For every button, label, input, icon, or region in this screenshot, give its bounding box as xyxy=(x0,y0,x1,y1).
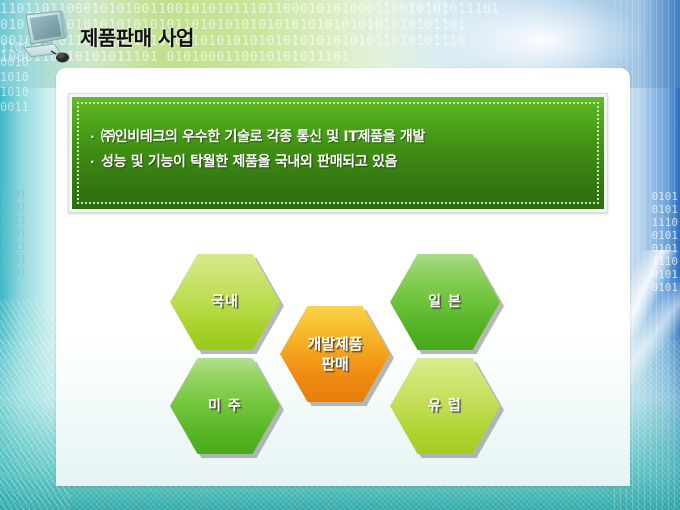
hexagon-diagram: 국내 일 본 미 주 유 럽 개발제품 판매 xyxy=(150,240,530,460)
binary-row: 1101 xyxy=(0,253,58,266)
hexagon-label: 일 본 xyxy=(428,293,462,311)
binary-row: 1011 xyxy=(0,240,58,253)
callout-bullet-list: ·㈜인비테크의 우수한 기술로 각종 통신 및 IT제품올 개발 ·성능 및 기… xyxy=(90,125,590,175)
binary-row: 1010 xyxy=(0,70,58,85)
binary-row: 1101101100010101001100101010111011000101… xyxy=(0,2,680,18)
list-item: ·성능 및 기능이 탁월한 제품올 국내외 판매되고 있음 xyxy=(90,150,590,175)
hexagon-center-label: 개발제품 판매 xyxy=(307,334,362,374)
hexagon-label: 미 주 xyxy=(208,397,242,415)
binary-row: 1010 xyxy=(0,85,58,100)
desktop-computer-icon xyxy=(16,8,78,70)
binary-row: 1101 xyxy=(0,266,58,279)
bullet-marker: · xyxy=(90,125,101,150)
binary-row: 1101 xyxy=(0,201,58,214)
summary-callout-box: ·㈜인비테크의 우수한 기술로 각종 통신 및 IT제품올 개발 ·성능 및 기… xyxy=(68,93,608,213)
list-item-text: 성능 및 기능이 탁월한 제품올 국내외 판매되고 있음 xyxy=(101,154,397,170)
hexagon-center-label-line1: 개발제품 xyxy=(307,335,362,353)
callout-inner: ·㈜인비테크의 우수한 기술로 각종 통신 및 IT제품올 개발 ·성능 및 기… xyxy=(72,97,604,209)
hexagon-label: 국내 xyxy=(211,293,239,311)
binary-row: 1011 xyxy=(0,214,58,227)
hexagon-center-label-line2: 판매 xyxy=(321,355,349,373)
binary-row: 1101 xyxy=(0,227,58,240)
binary-row: 1101 xyxy=(0,188,58,201)
hexagon-label: 유 럽 xyxy=(428,397,462,415)
list-item-text: ㈜인비테크의 우수한 기술로 각종 통신 및 IT제품올 개발 xyxy=(101,129,425,145)
binary-row: 0011 xyxy=(0,100,58,115)
bullet-marker: · xyxy=(90,150,101,175)
binary-row: 1000110010101011101 01010001100101010111… xyxy=(0,50,680,66)
binary-pattern-left-lower: 1101 1101 1011 1101 1011 1101 1101 xyxy=(0,188,58,279)
presentation-slide: 1101101100010101001100101010111011000101… xyxy=(0,0,680,510)
list-item: ·㈜인비테크의 우수한 기술로 각종 통신 및 IT제품올 개발 xyxy=(90,125,590,150)
page-title: 제품판매 사업 xyxy=(80,22,194,51)
